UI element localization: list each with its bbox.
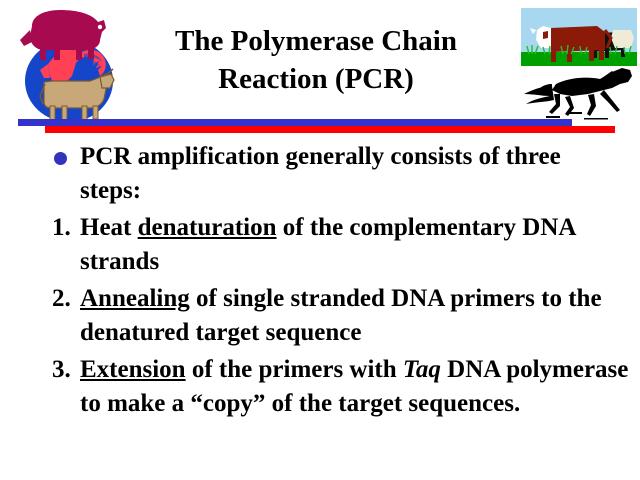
galloping-horse-silhouette-icon	[516, 66, 640, 124]
bullet-item: PCR amplification generally consists of …	[52, 140, 620, 208]
farm-animals-logo-icon	[14, 4, 122, 122]
step-3-emphasis: Extension	[80, 356, 186, 383]
step-3-italic-term: Taq	[403, 356, 441, 383]
title-line-1: The Polymerase Chain	[130, 22, 502, 60]
step-1-text-before: Heat	[80, 214, 138, 241]
list-number-3: 3.	[52, 353, 76, 387]
bullet-text: PCR amplification generally consists of …	[80, 143, 561, 204]
divider-bar-red	[45, 126, 615, 133]
list-item-1: 1. Heat denaturation of the complementar…	[52, 211, 640, 279]
slide-header: The Polymerase Chain Reaction (PCR)	[0, 0, 640, 136]
step-1-emphasis: denaturation	[138, 214, 277, 241]
list-number-1: 1.	[52, 211, 76, 245]
divider-bar-blue	[18, 119, 572, 126]
list-number-2: 2.	[52, 282, 76, 316]
bullet-dot-icon	[54, 152, 67, 165]
slide-body: PCR amplification generally consists of …	[0, 140, 640, 421]
step-2-emphasis: Annealing	[80, 285, 190, 312]
list-item-3: 3.Extension of the primers with Taq DNA …	[52, 353, 640, 421]
page-title: The Polymerase Chain Reaction (PCR)	[130, 22, 502, 98]
step-3-text-mid: of the primers with	[186, 356, 403, 383]
title-line-2: Reaction (PCR)	[130, 60, 502, 98]
slide-canvas: The Polymerase Chain Reaction (PCR)	[0, 0, 640, 480]
cattle-in-pasture-photo	[521, 8, 637, 66]
list-item-2: 2.Annealing of single stranded DNA prime…	[52, 282, 640, 350]
